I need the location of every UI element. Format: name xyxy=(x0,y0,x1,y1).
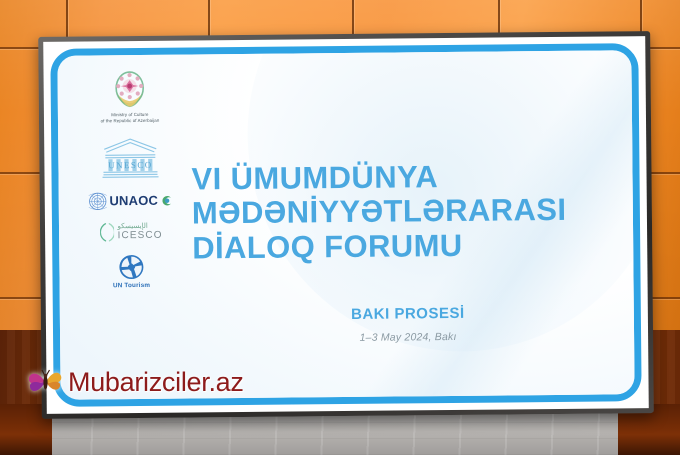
logo-unesco: UNESCO xyxy=(74,135,186,180)
unesco-temple-icon: UNESCO xyxy=(100,136,160,181)
forum-title: VI ÜMUMDÜNYA MƏDƏNİYYƏTLƏRARASI DİALOQ F… xyxy=(191,158,622,265)
logo-ministry-of-culture: Ministry of Culture of the Republic of A… xyxy=(73,69,186,126)
slide-subtitle-block: BAKI PROSESİ 1–3 May 2024, Bakı xyxy=(193,303,623,345)
logo-un-tourism: UN Tourism xyxy=(75,253,187,289)
presentation-screen[interactable]: Ministry of Culture of the Republic of A… xyxy=(38,31,654,419)
unaoc-label: UNAOC xyxy=(109,194,158,207)
ministry-of-culture-caption: Ministry of Culture of the Republic of A… xyxy=(74,112,186,126)
un-tourism-label: UN Tourism xyxy=(76,281,188,289)
screen-surface: Ministry of Culture of the Republic of A… xyxy=(43,36,649,414)
unaoc-swirl-icon xyxy=(161,194,173,206)
icesco-label: ICESCO xyxy=(118,231,163,241)
baku-process-label: BAKI PROSESİ xyxy=(193,303,623,324)
azerbaijan-emblem-icon xyxy=(111,69,147,109)
site-watermark: Mubarizciler.az xyxy=(26,366,244,398)
forum-date-label: 1–3 May 2024, Bakı xyxy=(193,329,623,345)
organizer-logo-column: Ministry of Culture of the Republic of A… xyxy=(73,69,187,290)
slide-headline: VI ÜMUMDÜNYA MƏDƏNİYYƏTLƏRARASI DİALOQ F… xyxy=(191,158,622,265)
un-emblem-icon xyxy=(88,192,106,210)
icesco-bracket-icon xyxy=(99,221,113,243)
logo-unaoc: UNAOC xyxy=(75,190,187,210)
presentation-slide: Ministry of Culture of the Republic of A… xyxy=(57,50,634,399)
logo-icesco: الإيسيسكو ICESCO xyxy=(75,220,187,243)
svg-text:UNESCO: UNESCO xyxy=(108,160,153,170)
butterfly-icon xyxy=(26,366,66,398)
watermark-text: Mubarizciler.az xyxy=(68,369,244,396)
un-tourism-globe-icon xyxy=(118,254,144,280)
conference-hall-scene: Ministry of Culture of the Republic of A… xyxy=(0,0,680,455)
